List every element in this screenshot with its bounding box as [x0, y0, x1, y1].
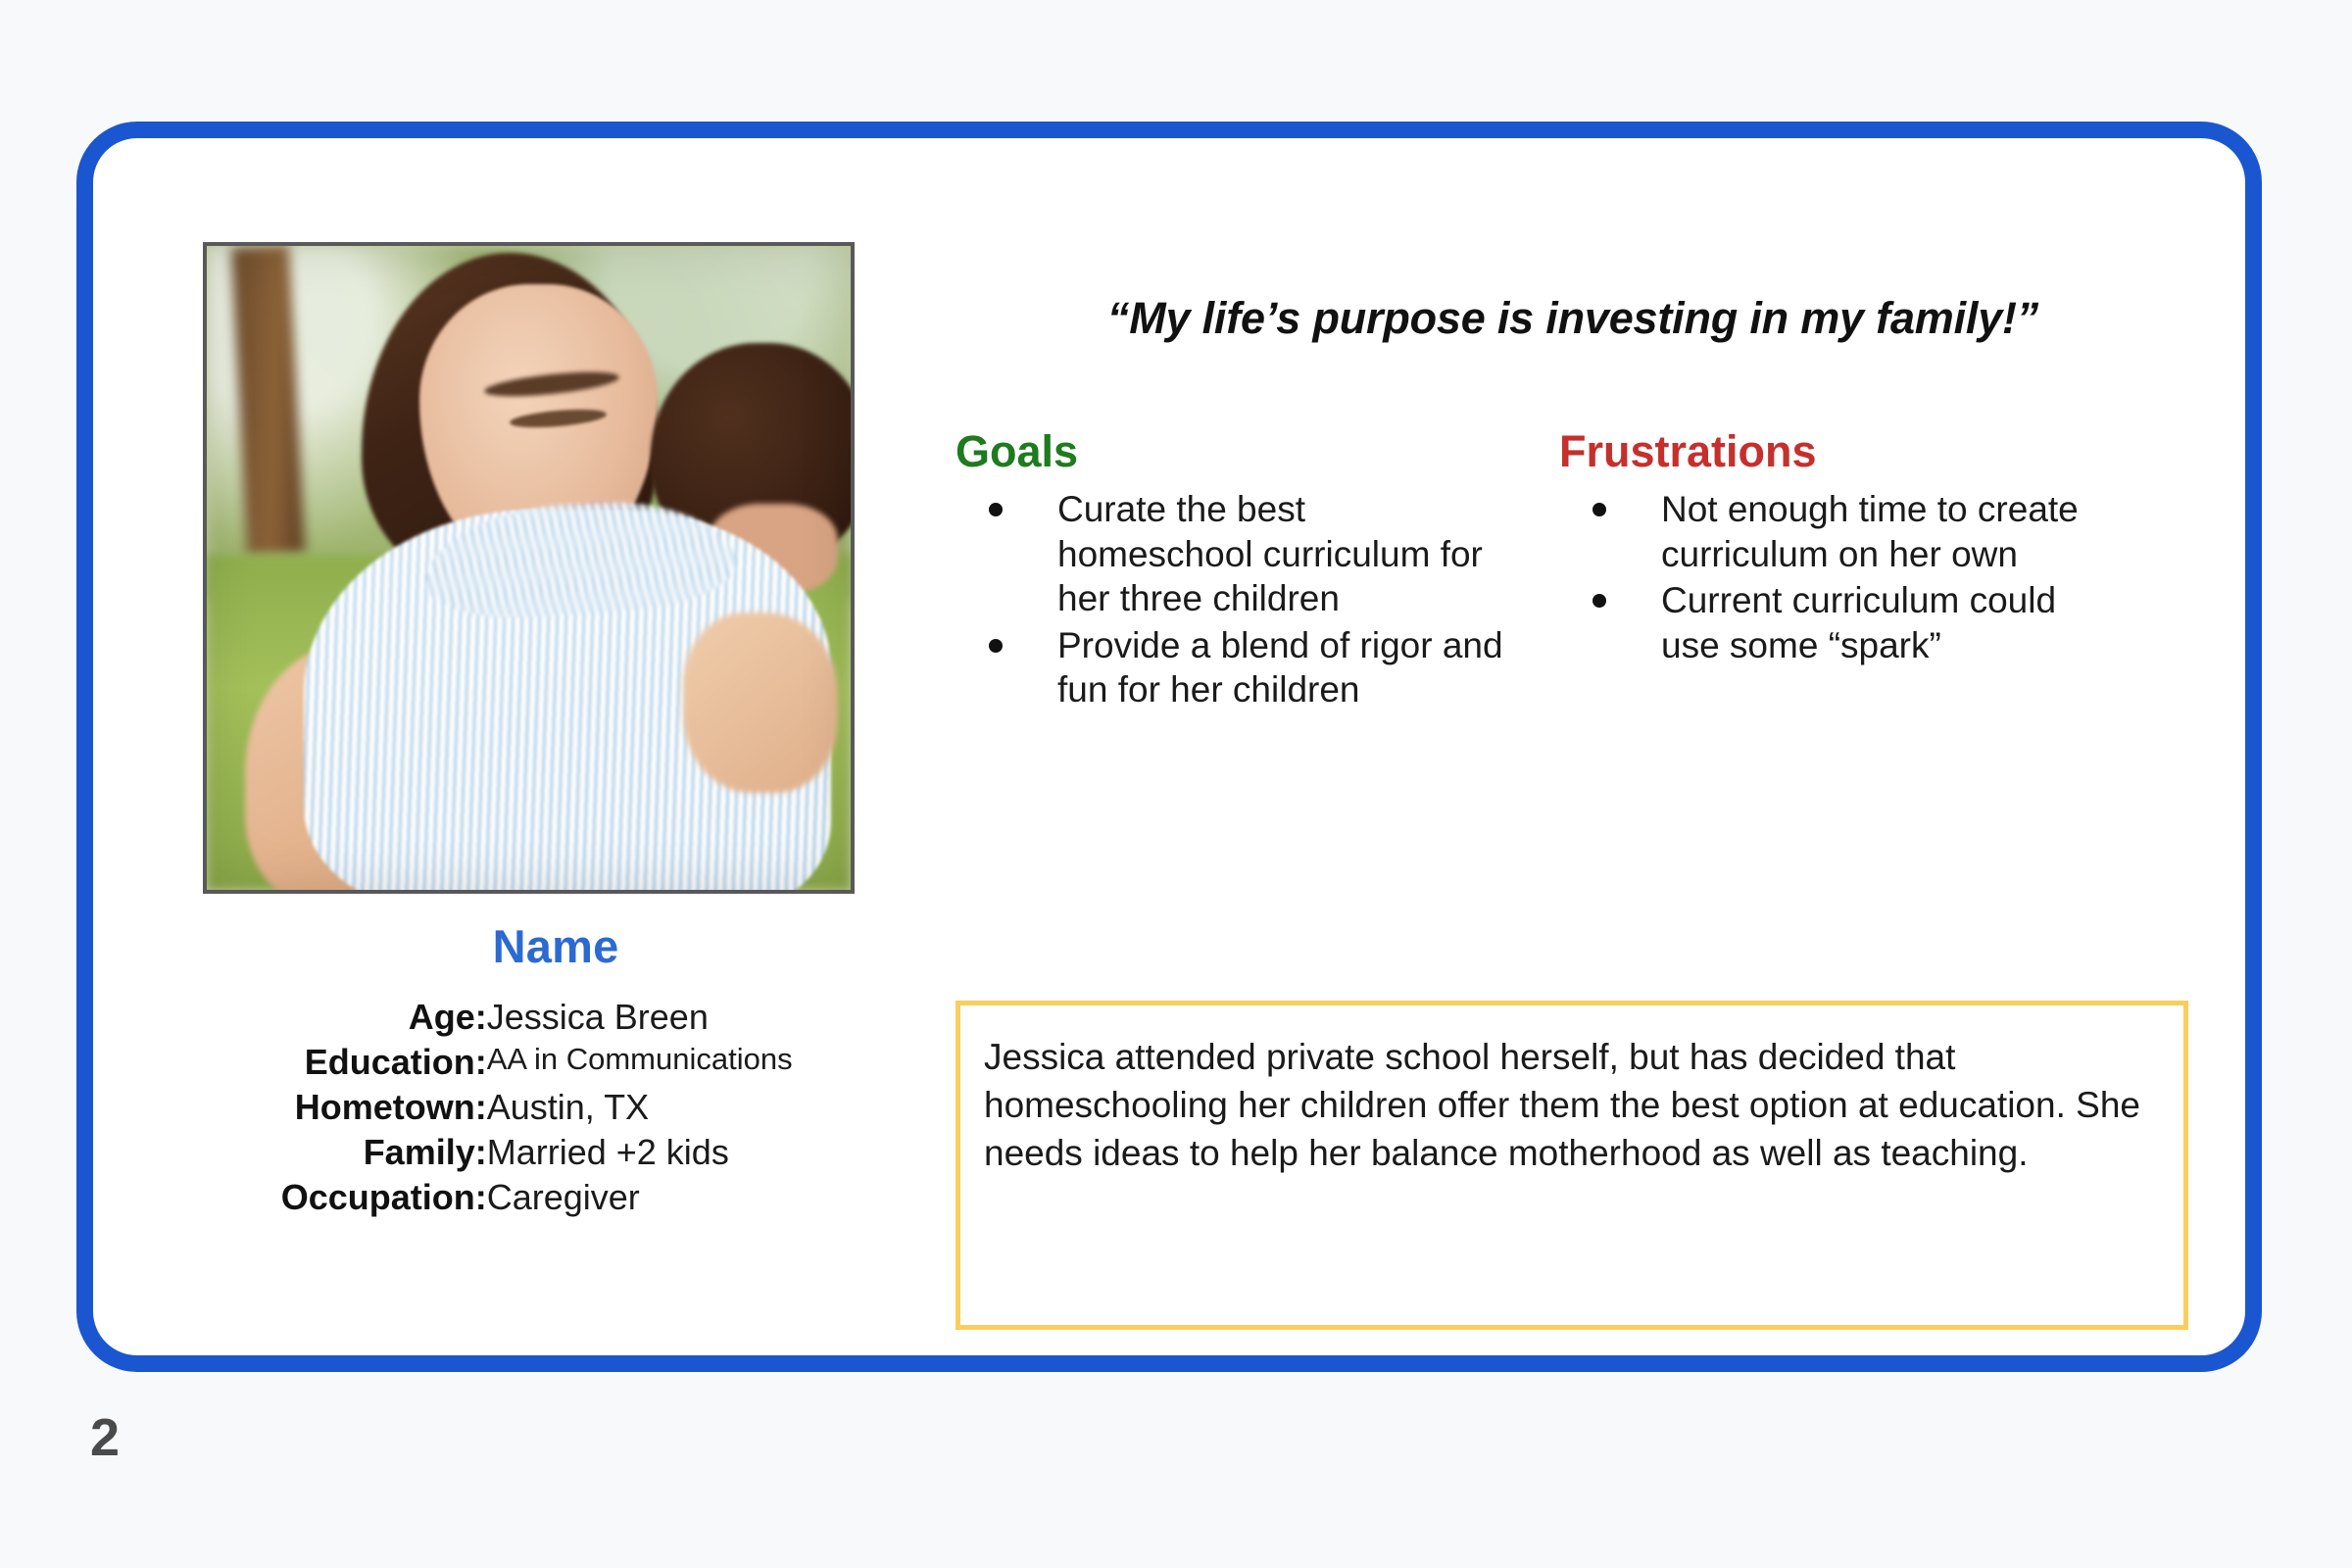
bullet-icon	[989, 639, 1003, 653]
persona-name-heading: Name	[203, 919, 908, 973]
detail-label-hometown: Hometown:	[203, 1085, 487, 1130]
frustration-text: Not enough time to create curriculum on …	[1661, 489, 2079, 574]
detail-value-occupation: Caregiver	[487, 1175, 908, 1220]
slide-canvas: Name Age: Jessica Breen Education: AA in…	[0, 0, 2352, 1568]
persona-card: Name Age: Jessica Breen Education: AA in…	[76, 122, 2262, 1372]
detail-label-family: Family:	[203, 1130, 487, 1175]
persona-photo	[203, 242, 855, 894]
detail-label-age: Age:	[203, 995, 487, 1040]
persona-quote: “My life’s purpose is investing in my fa…	[955, 242, 2190, 344]
table-row: Hometown: Austin, TX	[203, 1085, 908, 1130]
persona-summary-text: Jessica attended private school herself,…	[960, 1005, 2183, 1178]
table-row: Family: Married +2 kids	[203, 1130, 908, 1175]
goals-title: Goals	[955, 426, 1504, 477]
bullet-icon	[1592, 503, 1606, 516]
detail-value-family: Married +2 kids	[487, 1130, 908, 1175]
goal-text: Provide a blend of rigor and fun for her…	[1057, 625, 1503, 710]
list-item: Current curriculum could use some “spark…	[1592, 578, 2108, 667]
list-item: Not enough time to create curriculum on …	[1592, 487, 2108, 576]
frustrations-title: Frustrations	[1559, 426, 2108, 477]
persona-left-column: Name Age: Jessica Breen Education: AA in…	[203, 242, 908, 1220]
detail-value-hometown: Austin, TX	[487, 1085, 908, 1130]
table-row: Occupation: Caregiver	[203, 1175, 908, 1220]
goals-frustrations-row: Goals Curate the best homeschool curricu…	[955, 426, 2190, 714]
detail-value-age: Jessica Breen	[487, 995, 908, 1040]
page-number: 2	[90, 1407, 120, 1468]
goals-block: Goals Curate the best homeschool curricu…	[955, 426, 1504, 714]
table-row: Education: AA in Communications	[203, 1040, 908, 1085]
persona-right-column: “My life’s purpose is investing in my fa…	[955, 242, 2190, 714]
detail-label-education: Education:	[203, 1040, 487, 1085]
detail-label-occupation: Occupation:	[203, 1175, 487, 1220]
frustrations-list: Not enough time to create curriculum on …	[1559, 487, 2108, 667]
goal-text: Curate the best homeschool curriculum fo…	[1057, 489, 1483, 618]
bullet-icon	[1592, 594, 1606, 608]
table-row: Age: Jessica Breen	[203, 995, 908, 1040]
persona-summary-box: Jessica attended private school herself,…	[955, 1001, 2188, 1330]
detail-value-education: AA in Communications	[487, 1040, 908, 1085]
bullet-icon	[989, 503, 1003, 516]
goals-list: Curate the best homeschool curriculum fo…	[955, 487, 1504, 712]
frustration-text: Current curriculum could use some “spark…	[1661, 580, 2056, 665]
persona-details-table: Age: Jessica Breen Education: AA in Comm…	[203, 995, 908, 1220]
frustrations-block: Frustrations Not enough time to create c…	[1559, 426, 2108, 714]
list-item: Curate the best homeschool curriculum fo…	[989, 487, 1504, 621]
photo-vignette	[207, 246, 851, 890]
list-item: Provide a blend of rigor and fun for her…	[989, 623, 1504, 712]
